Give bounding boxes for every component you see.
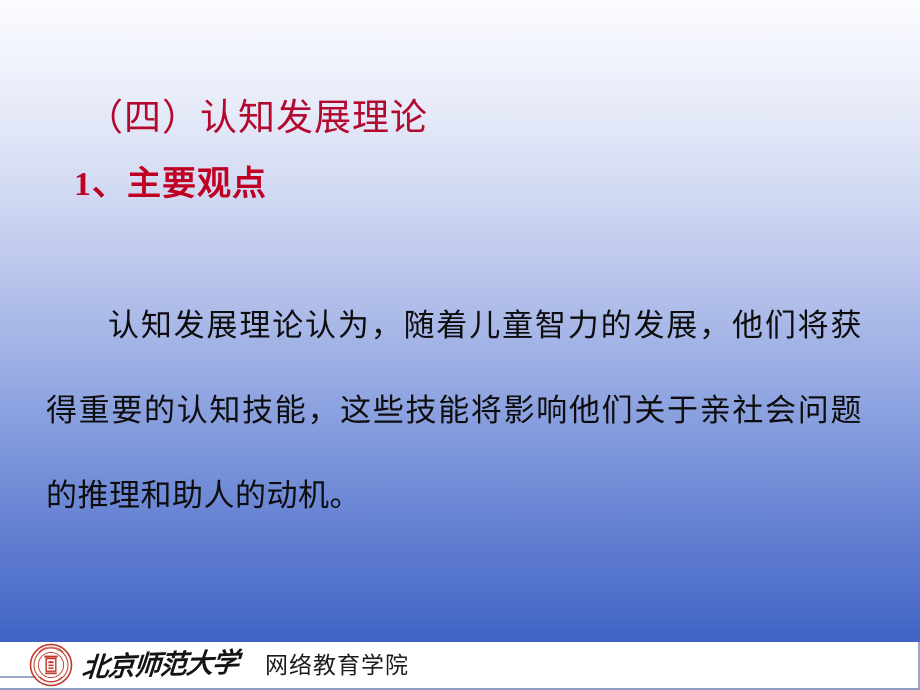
college-name-label: 网络教育学院 [255,654,409,677]
university-seal-icon [29,643,73,687]
page-title: （四）认知发展理论 [0,96,920,142]
slide-background: （四）认知发展理论 1、主要观点 认知发展理论认为，随着儿童智力的发展，他们将获… [0,0,920,642]
school-name-logotype: 北京师范大学 [81,649,247,682]
footer-branding: 北京师范大学 网络教育学院 [0,643,409,687]
slide-content: 认知发展理论认为，随着儿童智力的发展，他们将获得重要的认知技能，这些技能将影响他… [46,283,862,538]
body-paragraph: 认知发展理论认为，随着儿童智力的发展，他们将获得重要的认知技能，这些技能将影响他… [46,283,862,538]
slide-heading-group: （四）认知发展理论 1、主要观点 [0,96,920,206]
slide-footer: 北京师范大学 网络教育学院 [0,642,920,690]
presentation-slide: （四）认知发展理论 1、主要观点 认知发展理论认为，随着儿童智力的发展，他们将获… [0,0,920,690]
page-subtitle: 1、主要观点 [0,142,920,206]
